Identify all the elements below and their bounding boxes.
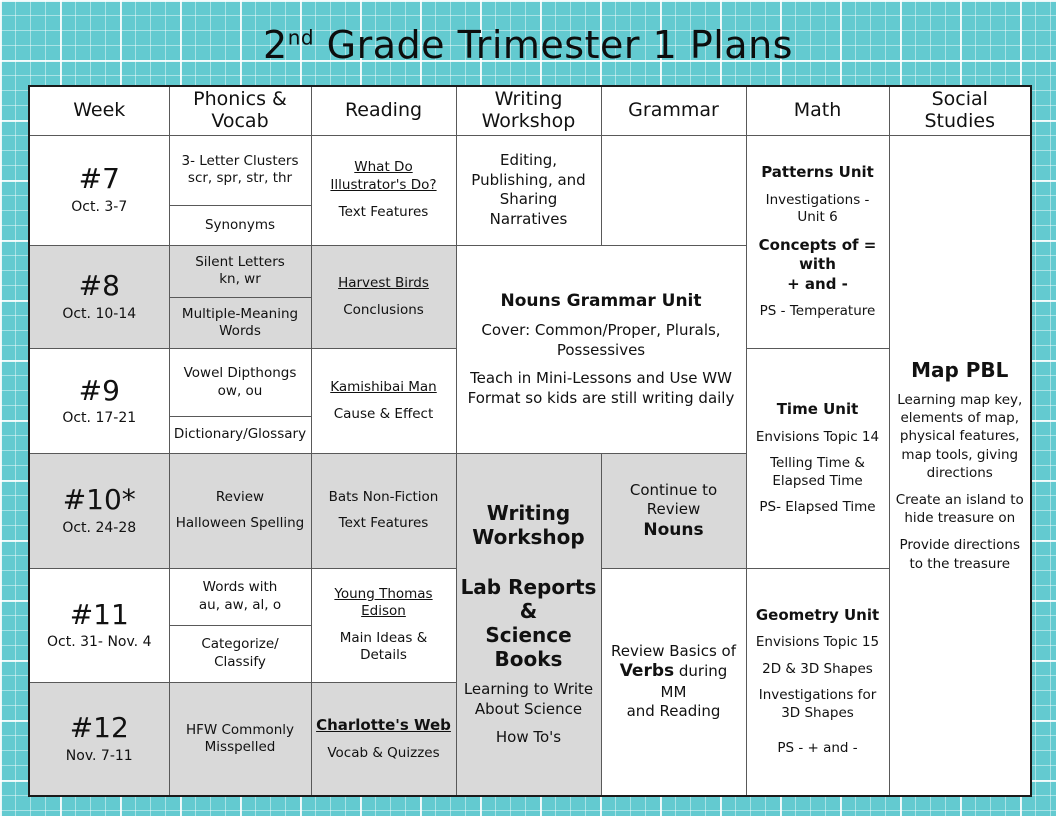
week-number: #9 bbox=[34, 376, 165, 407]
spacer bbox=[751, 722, 885, 740]
phonics-cell-9: Vowel Dipthongs ow, ou Dictionary/Glossa… bbox=[169, 349, 311, 454]
phonics-top-line-1: Vowel Dipthongs bbox=[184, 365, 297, 381]
header-line-1: Writing bbox=[495, 88, 563, 110]
spacer bbox=[751, 652, 885, 661]
week-dates: Oct. 17-21 bbox=[34, 410, 165, 427]
title-prefix: 2 bbox=[263, 23, 288, 67]
math-line-2: Unit 6 bbox=[751, 209, 885, 227]
reading-skill: Vocab & Quizzes bbox=[316, 745, 452, 763]
writing-sub-line-2: Science Books bbox=[461, 623, 597, 671]
phonics-top: Silent Letters kn, wr bbox=[170, 246, 311, 297]
writing-line-3: Sharing bbox=[500, 190, 558, 208]
title-superscript: nd bbox=[288, 25, 314, 49]
spacer bbox=[751, 490, 885, 499]
spacer bbox=[461, 549, 597, 575]
nouns-unit-line-2: Possessives bbox=[461, 341, 742, 361]
reading-skill-line-1: Main Ideas & bbox=[316, 630, 452, 648]
nouns-unit-line-3: Teach in Mini-Lessons and Use WW bbox=[461, 369, 742, 389]
phonics-top-line-1: 3- Letter Clusters bbox=[181, 153, 298, 169]
phonics-top: Vowel Dipthongs ow, ou bbox=[170, 349, 311, 416]
math-heading-concepts-line-2: + and - bbox=[751, 275, 885, 295]
ss-p3-line-2: to the treasure bbox=[894, 555, 1027, 573]
page-title: 2nd Grade Trimester 1 Plans bbox=[0, 0, 1056, 64]
reading-book-title: Kamishibai Man bbox=[316, 379, 452, 397]
phonics-bottom-line-1: Halloween Spelling bbox=[174, 515, 307, 533]
spacer bbox=[751, 678, 885, 687]
ss-p3-line-1: Provide directions bbox=[894, 536, 1027, 554]
reading-title-line-2: Illustrator's Do? bbox=[330, 177, 436, 193]
phonics-top: Words with au, aw, al, o bbox=[170, 569, 311, 626]
column-header-grammar: Grammar bbox=[601, 86, 746, 135]
spacer bbox=[751, 420, 885, 429]
spacer bbox=[751, 446, 885, 455]
ss-p2-line-1: Create an island to bbox=[894, 491, 1027, 509]
phonics-bottom-line-1: Categorize/ Classify bbox=[201, 636, 278, 670]
phonics-bottom: Categorize/ Classify bbox=[170, 625, 311, 682]
writing-cell-weeks-10-12: Writing Workshop Lab Reports & Science B… bbox=[456, 454, 601, 796]
grammar-line-2: Nouns bbox=[606, 520, 742, 541]
week-number: #8 bbox=[34, 271, 165, 302]
spacer bbox=[894, 482, 1027, 491]
math-heading-patterns: Patterns Unit bbox=[751, 163, 885, 183]
reading-cell-8: Harvest Birds Conclusions bbox=[311, 245, 456, 349]
nouns-unit-line-4: Format so kids are still writing daily bbox=[461, 389, 742, 409]
reading-title-line-1: Young Thomas bbox=[334, 586, 432, 602]
phonics-cell-12: HFW Commonly Misspelled bbox=[169, 683, 311, 796]
reading-book-title: Charlotte's Web bbox=[316, 716, 452, 736]
math-heading-concepts-line-1: Concepts of = with bbox=[751, 236, 885, 275]
column-header-social-studies: Social Studies bbox=[889, 86, 1031, 135]
table-row-week-7: #7 Oct. 3-7 3- Letter Clusters scr, spr,… bbox=[29, 135, 1031, 245]
reading-skill: Cause & Effect bbox=[316, 406, 452, 424]
phonics-cell-11: Words with au, aw, al, o Categorize/ Cla… bbox=[169, 568, 311, 682]
reading-skill-line-2: Details bbox=[316, 647, 452, 665]
phonics-bottom: Multiple-Meaning Words bbox=[170, 297, 311, 348]
reading-skill: Text Features bbox=[316, 204, 452, 222]
week-dates: Oct. 24-28 bbox=[34, 520, 165, 537]
math-line-1: Envisions Topic 14 bbox=[751, 429, 885, 447]
math-line-4: PS- Elapsed Time bbox=[751, 499, 885, 517]
spacer bbox=[751, 183, 885, 192]
header-line-2: Studies bbox=[925, 110, 995, 132]
grammar-line-1: Continue to Review bbox=[606, 481, 742, 520]
grammar-line-2: Verbs during MM bbox=[606, 661, 742, 702]
phonics-bottom-line-1: Synonyms bbox=[205, 217, 275, 233]
writing-body-line-3: How To's bbox=[461, 728, 597, 748]
reading-title-line-2: Edison bbox=[361, 603, 406, 619]
grammar-line-3: and Reading bbox=[606, 702, 742, 722]
social-studies-cell-map-pbl: Map PBL Learning map key, elements of ma… bbox=[889, 135, 1031, 796]
week-dates: Oct. 31- Nov. 4 bbox=[34, 634, 165, 651]
header-line-1: Grammar bbox=[628, 99, 719, 121]
reading-cell-9: Kamishibai Man Cause & Effect bbox=[311, 349, 456, 454]
phonics-cell-10: Review Halloween Spelling bbox=[169, 454, 311, 568]
spacer bbox=[894, 527, 1027, 536]
math-line-4: 3D Shapes bbox=[751, 705, 885, 723]
reading-skill: Conclusions bbox=[316, 302, 452, 320]
writing-heading-line-1: Writing bbox=[461, 501, 597, 525]
trimester-plan-table: Week Phonics & Vocab Reading Writing Wor… bbox=[28, 85, 1032, 797]
reading-cell-12: Charlotte's Web Vocab & Quizzes bbox=[311, 683, 456, 796]
phonics-top-line-1: Review bbox=[174, 489, 307, 507]
phonics-bottom-line-2: Words bbox=[219, 323, 261, 339]
nouns-unit-line-1: Cover: Common/Proper, Plurals, bbox=[461, 321, 742, 341]
phonics-top-line-2: ow, ou bbox=[218, 383, 263, 399]
week-number: #11 bbox=[34, 600, 165, 631]
writing-body-line-2: About Science bbox=[461, 700, 597, 720]
week-cell-8: #8 Oct. 10-14 bbox=[29, 245, 169, 349]
math-line-3: PS - Temperature bbox=[751, 303, 885, 321]
writing-body-line-1: Learning to Write bbox=[461, 680, 597, 700]
phonics-top-line-2: scr, spr, str, thr bbox=[188, 170, 292, 186]
math-line-1: Investigations - bbox=[751, 192, 885, 210]
reading-book-title: What Do Illustrator's Do? bbox=[316, 159, 452, 194]
spacer bbox=[174, 506, 307, 515]
column-header-phonics-vocab: Phonics & Vocab bbox=[169, 86, 311, 135]
phonics-bottom-line-1: Multiple-Meaning bbox=[182, 306, 298, 322]
phonics-bottom: Dictionary/Glossary bbox=[170, 416, 311, 453]
ss-p1-line-2: elements of map, bbox=[894, 409, 1027, 427]
spacer bbox=[461, 671, 597, 680]
phonics-bottom: Synonyms bbox=[170, 206, 311, 245]
writing-line-2: Publishing, and bbox=[471, 171, 585, 189]
reading-book-title: Harvest Birds bbox=[316, 275, 452, 293]
writing-cell-7: Editing, Publishing, and Sharing Narrati… bbox=[456, 135, 601, 245]
phonics-top-line-2: au, aw, al, o bbox=[199, 597, 281, 613]
spacer bbox=[316, 195, 452, 204]
phonics-bottom-line-1: Dictionary/Glossary bbox=[174, 426, 306, 442]
spacer bbox=[894, 382, 1027, 391]
nouns-unit-heading: Nouns Grammar Unit bbox=[461, 291, 742, 312]
phonics-cell-7: 3- Letter Clusters scr, spr, str, thr Sy… bbox=[169, 135, 311, 245]
week-number: #12 bbox=[34, 713, 165, 744]
column-header-math: Math bbox=[746, 86, 889, 135]
math-line-3: Investigations for bbox=[751, 687, 885, 705]
week-cell-7: #7 Oct. 3-7 bbox=[29, 135, 169, 245]
week-cell-11: #11 Oct. 31- Nov. 4 bbox=[29, 568, 169, 682]
week-dates: Oct. 3-7 bbox=[34, 199, 165, 216]
spacer bbox=[461, 312, 742, 321]
phonics-cell-8: Silent Letters kn, wr Multiple-Meaning W… bbox=[169, 245, 311, 349]
spacer bbox=[316, 506, 452, 515]
ss-p2-line-2: hide treasure on bbox=[894, 509, 1027, 527]
title-rest: Grade Trimester 1 Plans bbox=[314, 23, 793, 67]
grammar-cell-weeks-11-12: Review Basics of Verbs during MM and Rea… bbox=[601, 568, 746, 796]
grammar-cell-7 bbox=[601, 135, 746, 245]
reading-cell-10: Bats Non-Fiction Text Features bbox=[311, 454, 456, 568]
spacer bbox=[751, 227, 885, 236]
social-studies-heading: Map PBL bbox=[894, 358, 1027, 382]
math-cell-weeks-11-12: Geometry Unit Envisions Topic 15 2D & 3D… bbox=[746, 568, 889, 796]
ss-p1-line-1: Learning map key, bbox=[894, 391, 1027, 409]
math-cell-weeks-7-8: Patterns Unit Investigations - Unit 6 Co… bbox=[746, 135, 889, 349]
math-line-5: PS - + and - bbox=[751, 740, 885, 758]
spacer bbox=[461, 719, 597, 728]
header-line-1: Math bbox=[794, 99, 842, 121]
phonics-top-line-1: HFW Commonly bbox=[174, 722, 307, 740]
week-number: #10* bbox=[34, 485, 165, 516]
ss-p1-line-4: map tools, giving bbox=[894, 446, 1027, 464]
writing-line-1: Editing, bbox=[500, 151, 557, 169]
spacer bbox=[316, 293, 452, 302]
spacer bbox=[751, 625, 885, 634]
week-cell-9: #9 Oct. 17-21 bbox=[29, 349, 169, 454]
grammar-verbs-bold: Verbs bbox=[620, 661, 674, 681]
math-line-2: Telling Time & bbox=[751, 455, 885, 473]
phonics-top-line-2: Misspelled bbox=[174, 739, 307, 757]
math-heading-time: Time Unit bbox=[751, 400, 885, 420]
writing-sub-line-1: Lab Reports & bbox=[461, 575, 597, 623]
grammar-line-1: Review Basics of bbox=[606, 642, 742, 662]
math-cell-weeks-9-10: Time Unit Envisions Topic 14 Telling Tim… bbox=[746, 349, 889, 568]
header-line-2: Workshop bbox=[482, 110, 576, 132]
reading-book-title: Bats Non-Fiction bbox=[316, 489, 452, 507]
spacer bbox=[316, 736, 452, 745]
ss-p1-line-3: physical features, bbox=[894, 427, 1027, 445]
writing-heading-line-2: Workshop bbox=[461, 525, 597, 549]
math-line-1: Envisions Topic 15 bbox=[751, 634, 885, 652]
spacer bbox=[461, 360, 742, 369]
reading-book-title: Young Thomas Edison bbox=[316, 586, 452, 621]
grammar-cell-10: Continue to Review Nouns bbox=[601, 454, 746, 568]
column-header-reading: Reading bbox=[311, 86, 456, 135]
header-line-2: Vocab bbox=[211, 110, 268, 132]
writing-grammar-cell-nouns-unit: Nouns Grammar Unit Cover: Common/Proper,… bbox=[456, 245, 746, 453]
spacer bbox=[316, 397, 452, 406]
phonics-top-line-1: Words with bbox=[203, 579, 278, 595]
table-header-row: Week Phonics & Vocab Reading Writing Wor… bbox=[29, 86, 1031, 135]
math-line-2: 2D & 3D Shapes bbox=[751, 661, 885, 679]
reading-cell-7: What Do Illustrator's Do? Text Features bbox=[311, 135, 456, 245]
phonics-top-line-2: kn, wr bbox=[219, 271, 261, 287]
header-line-1: Social bbox=[932, 88, 988, 110]
ss-p1-line-5: directions bbox=[894, 464, 1027, 482]
header-line-1: Week bbox=[73, 99, 125, 121]
header-line-1: Phonics & bbox=[193, 88, 287, 110]
spacer bbox=[751, 294, 885, 303]
week-dates: Oct. 10-14 bbox=[34, 306, 165, 323]
week-dates: Nov. 7-11 bbox=[34, 748, 165, 765]
reading-cell-11: Young Thomas Edison Main Ideas & Details bbox=[311, 568, 456, 682]
week-number: #7 bbox=[34, 164, 165, 195]
reading-skill: Text Features bbox=[316, 515, 452, 533]
math-line-3: Elapsed Time bbox=[751, 473, 885, 491]
reading-title-line-1: What Do bbox=[354, 159, 412, 175]
math-heading-geometry: Geometry Unit bbox=[751, 606, 885, 626]
week-cell-12: #12 Nov. 7-11 bbox=[29, 683, 169, 796]
week-cell-10: #10* Oct. 24-28 bbox=[29, 454, 169, 568]
header-line-1: Reading bbox=[345, 99, 422, 121]
phonics-top-line-1: Silent Letters bbox=[195, 254, 285, 270]
column-header-week: Week bbox=[29, 86, 169, 135]
writing-line-4: Narratives bbox=[490, 210, 568, 228]
column-header-writing-workshop: Writing Workshop bbox=[456, 86, 601, 135]
spacer bbox=[316, 621, 452, 630]
phonics-top: 3- Letter Clusters scr, spr, str, thr bbox=[170, 136, 311, 206]
